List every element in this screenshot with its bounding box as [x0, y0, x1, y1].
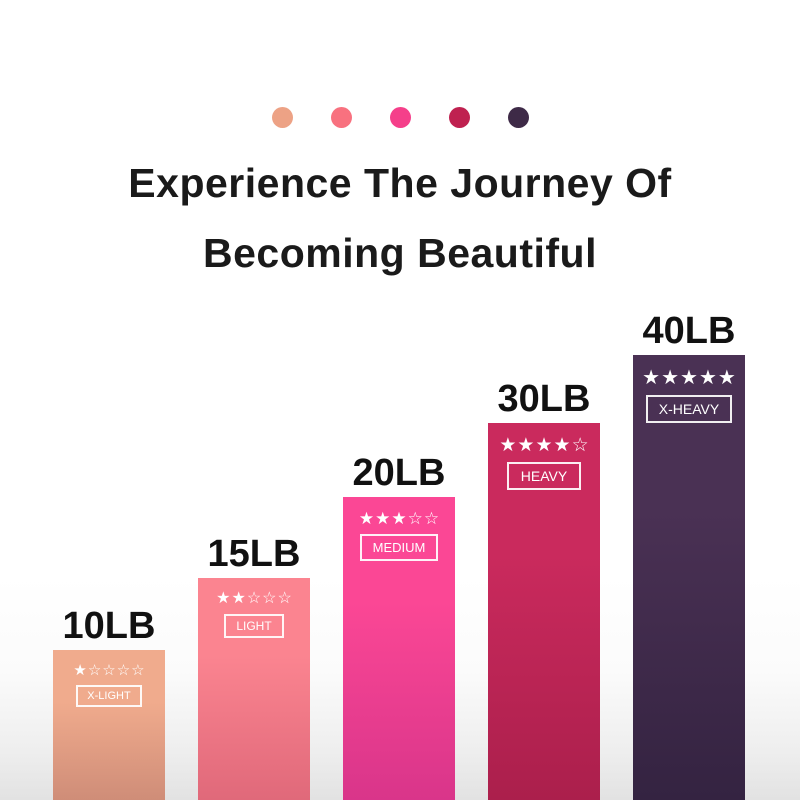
star-filled-icon: ★: [642, 368, 660, 388]
bar-group-30lb[interactable]: 30LB★★★★☆HEAVY: [488, 373, 600, 800]
star-filled-icon: ★: [359, 510, 374, 527]
resistance-badge: LIGHT: [224, 614, 283, 638]
bar-group-15lb[interactable]: 15LB★★☆☆☆LIGHT: [198, 528, 310, 800]
star-empty-icon: ☆: [572, 436, 589, 455]
star-filled-icon: ★: [535, 436, 552, 455]
star-filled-icon: ★: [699, 368, 717, 388]
star-filled-icon: ★: [554, 436, 571, 455]
resistance-badge: X-HEAVY: [646, 395, 732, 423]
bar-weight-label: 15LB: [198, 532, 310, 576]
star-empty-icon: ☆: [117, 663, 130, 678]
bar-20lb[interactable]: ★★★☆☆MEDIUM: [343, 497, 455, 800]
star-empty-icon: ☆: [424, 510, 439, 527]
star-filled-icon: ★: [391, 510, 406, 527]
star-rating: ★★☆☆☆: [216, 591, 292, 607]
star-filled-icon: ★: [216, 591, 230, 607]
resistance-badge: MEDIUM: [360, 534, 439, 561]
bar-15lb[interactable]: ★★☆☆☆LIGHT: [198, 578, 310, 800]
bar-10lb[interactable]: ★☆☆☆☆X-LIGHT: [53, 650, 165, 800]
star-filled-icon: ★: [73, 663, 86, 678]
bar-weight-label: 40LB: [633, 309, 745, 353]
bar-group-40lb[interactable]: 40LB★★★★★X-HEAVY: [633, 305, 745, 800]
star-empty-icon: ☆: [88, 663, 101, 678]
star-empty-icon: ☆: [131, 663, 144, 678]
star-rating: ★☆☆☆☆: [73, 663, 144, 678]
bar-group-10lb[interactable]: 10LB★☆☆☆☆X-LIGHT: [53, 600, 165, 800]
star-filled-icon: ★: [231, 591, 245, 607]
bar-40lb[interactable]: ★★★★★X-HEAVY: [633, 355, 745, 800]
star-empty-icon: ☆: [262, 591, 276, 607]
star-rating: ★★★★☆: [499, 436, 588, 455]
bar-weight-label: 20LB: [343, 451, 455, 495]
star-filled-icon: ★: [661, 368, 679, 388]
resistance-badge: HEAVY: [507, 462, 581, 490]
star-rating: ★★★☆☆: [359, 510, 439, 527]
resistance-level-bar-chart: 10LB★☆☆☆☆X-LIGHT15LB★★☆☆☆LIGHT20LB★★★☆☆M…: [0, 0, 800, 800]
star-filled-icon: ★: [680, 368, 698, 388]
star-rating: ★★★★★: [642, 368, 736, 388]
star-filled-icon: ★: [718, 368, 736, 388]
bar-30lb[interactable]: ★★★★☆HEAVY: [488, 423, 600, 800]
resistance-badge: X-LIGHT: [76, 685, 141, 707]
star-filled-icon: ★: [375, 510, 390, 527]
star-filled-icon: ★: [517, 436, 534, 455]
star-empty-icon: ☆: [278, 591, 292, 607]
promo-infographic: Experience The Journey Of Becoming Beaut…: [0, 0, 800, 800]
bar-weight-label: 10LB: [53, 604, 165, 648]
bar-group-20lb[interactable]: 20LB★★★☆☆MEDIUM: [343, 447, 455, 800]
bar-weight-label: 30LB: [488, 377, 600, 421]
star-empty-icon: ☆: [102, 663, 115, 678]
star-empty-icon: ☆: [247, 591, 261, 607]
star-empty-icon: ☆: [408, 510, 423, 527]
star-filled-icon: ★: [499, 436, 516, 455]
